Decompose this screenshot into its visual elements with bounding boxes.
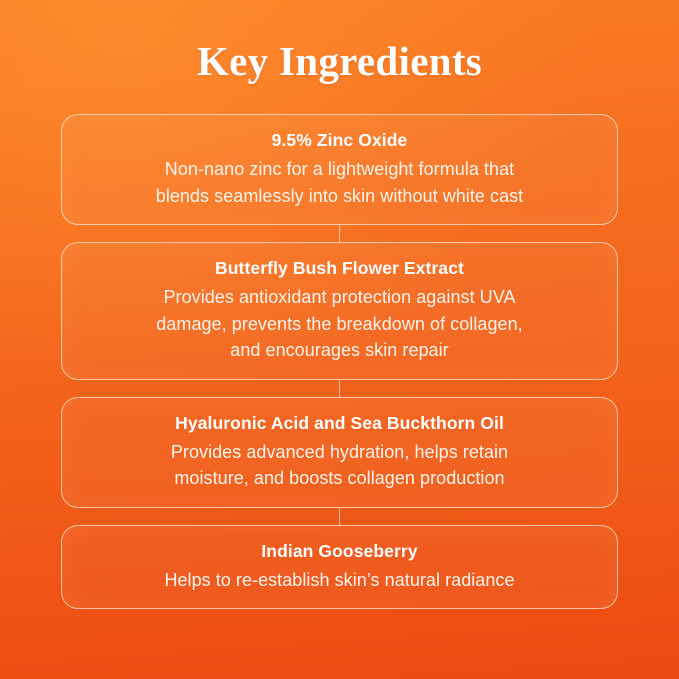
ingredient-card-body: Provides advanced hydration, helps retai…: [88, 439, 591, 492]
ingredient-card-body-line: moisture, and boosts collagen production: [88, 465, 591, 492]
ingredient-card-title: Indian Gooseberry: [88, 538, 591, 564]
ingredient-card-body: Helps to re-establish skin’s natural rad…: [88, 567, 591, 594]
page-title: Key Ingredients: [0, 35, 679, 87]
ingredient-card-hyaluronic-acid-sea-buckthorn-oil: Hyaluronic Acid and Sea Buckthorn Oil Pr…: [61, 397, 618, 508]
ingredient-card-title: Butterfly Bush Flower Extract: [88, 255, 591, 281]
poster-content: Key Ingredients 9.5% Zinc Oxide Non-nano…: [0, 0, 679, 679]
ingredient-card-body-line: Provides advanced hydration, helps retai…: [88, 439, 591, 466]
ingredient-card-title: 9.5% Zinc Oxide: [88, 127, 591, 153]
ingredient-card-body: Non-nano zinc for a lightweight formula …: [88, 156, 591, 209]
ingredient-card-body-line: Provides antioxidant protection against …: [88, 284, 591, 311]
ingredient-card-stack: 9.5% Zinc Oxide Non-nano zinc for a ligh…: [61, 114, 618, 609]
ingredient-card-body-line: Helps to re-establish skin’s natural rad…: [88, 567, 591, 594]
ingredient-card-body-line: damage, prevents the breakdown of collag…: [88, 311, 591, 338]
ingredient-card-body-line: and encourages skin repair: [88, 337, 591, 364]
ingredient-card-zinc-oxide: 9.5% Zinc Oxide Non-nano zinc for a ligh…: [61, 114, 618, 225]
ingredients-poster: Key Ingredients 9.5% Zinc Oxide Non-nano…: [0, 0, 679, 679]
ingredient-card-body: Provides antioxidant protection against …: [88, 284, 591, 364]
ingredient-card-body-line: Non-nano zinc for a lightweight formula …: [88, 156, 591, 183]
ingredient-card-butterfly-bush-flower-extract: Butterfly Bush Flower Extract Provides a…: [61, 242, 618, 380]
ingredient-card-indian-gooseberry: Indian Gooseberry Helps to re-establish …: [61, 525, 618, 610]
ingredient-card-body-line: blends seamlessly into skin without whit…: [88, 183, 591, 210]
ingredient-card-title: Hyaluronic Acid and Sea Buckthorn Oil: [88, 410, 591, 436]
